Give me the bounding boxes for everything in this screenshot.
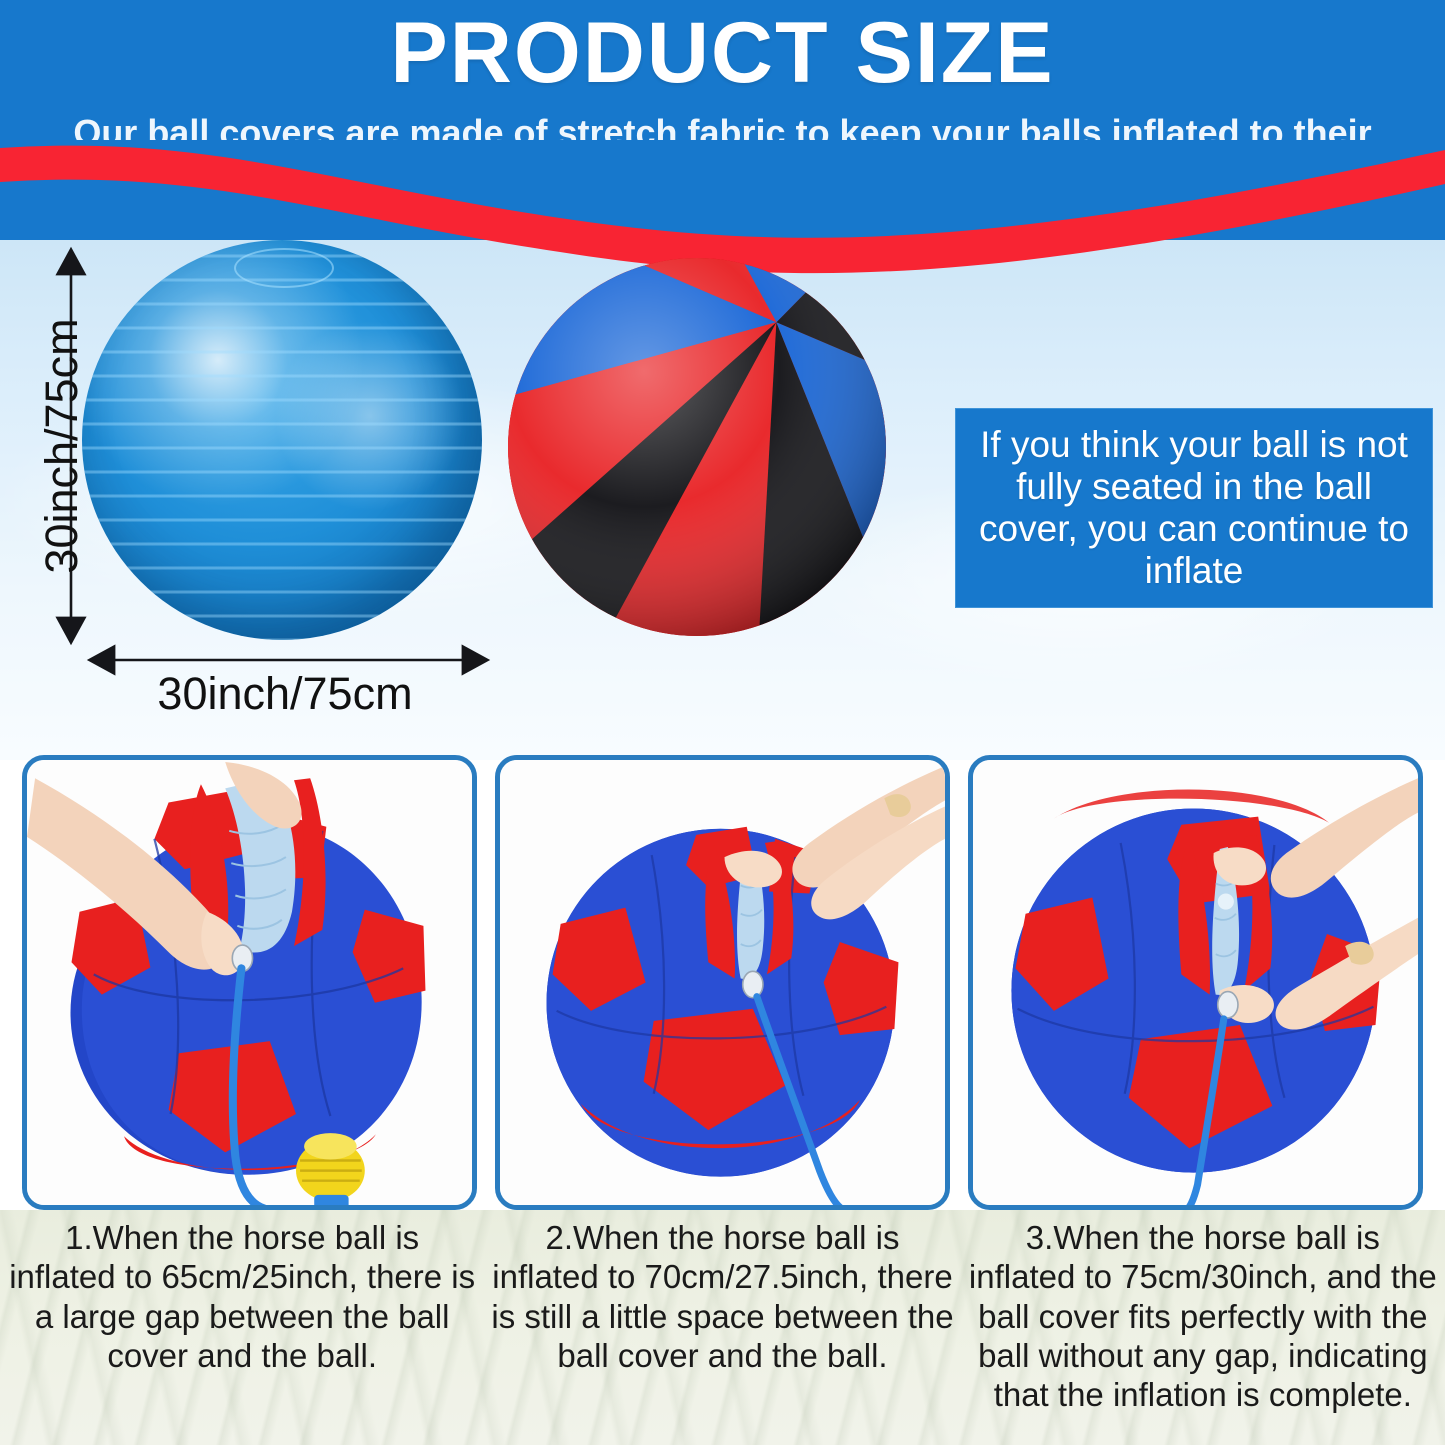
horizontal-dimension-label: 30inch/75cm bbox=[60, 668, 510, 720]
panel-3-photo bbox=[973, 760, 1418, 1210]
inflate-tip-text: If you think your ball is not fully seat… bbox=[966, 424, 1422, 591]
photo-panel-2 bbox=[495, 755, 950, 1210]
caption-step-3: 3.When the horse ball is inflated to 75c… bbox=[967, 1216, 1439, 1445]
caption-row: 1.When the horse ball is inflated to 65c… bbox=[0, 1210, 1445, 1445]
photo-panel-strip bbox=[0, 755, 1445, 1210]
product-size-infographic: PRODUCT SIZE Our ball covers are made of… bbox=[0, 0, 1445, 1445]
beach-ball-image bbox=[508, 258, 886, 636]
photo-panel-1 bbox=[22, 755, 477, 1210]
page-title: PRODUCT SIZE bbox=[0, 8, 1445, 98]
caption-step-1: 1.When the horse ball is inflated to 65c… bbox=[6, 1216, 478, 1445]
panel-1-photo bbox=[27, 760, 472, 1210]
inflate-tip-callout: If you think your ball is not fully seat… bbox=[955, 408, 1433, 608]
panel-2-photo bbox=[500, 760, 945, 1210]
caption-step-2: 2.When the horse ball is inflated to 70c… bbox=[486, 1216, 958, 1445]
beach-ball-segments bbox=[508, 258, 886, 636]
photo-panel-3 bbox=[968, 755, 1423, 1210]
vertical-dimension-label: 30inch/75cm bbox=[36, 276, 88, 616]
